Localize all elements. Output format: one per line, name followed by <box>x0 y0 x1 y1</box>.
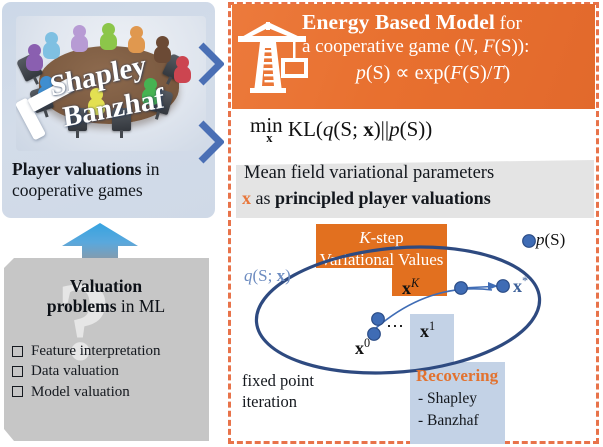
x1-sup: 1 <box>429 319 435 333</box>
principled-line: x as principled player valuations <box>242 188 598 209</box>
checkbox-icon[interactable] <box>12 386 23 397</box>
x-1-label: x1 <box>420 319 435 342</box>
formula-F: F <box>450 62 462 84</box>
kl-objective: min x KL(q(S; x)||p(S)) <box>250 113 570 146</box>
subtitle-mid: , <box>473 36 483 57</box>
q-symbol: q <box>244 266 253 285</box>
list-item-label: Data valuation <box>31 361 119 381</box>
title-bold-2: problems <box>47 296 117 316</box>
recovering-title: Recovering <box>416 366 498 386</box>
recovering-item: - Banzhaf <box>418 410 479 432</box>
player-valuations-panel: Shapley Banzhaf Player valuations in coo… <box>2 2 215 218</box>
caption-bold: Player valuations <box>12 159 141 179</box>
formula-end: ) <box>503 62 510 84</box>
kl-body-pre: KL( <box>288 117 323 141</box>
checkbox-icon[interactable] <box>12 366 23 377</box>
recovering-item: - Shapley <box>418 388 479 410</box>
x1-base: x <box>420 321 429 341</box>
q-end: ) <box>285 266 291 285</box>
fixed-point-line1: fixed point <box>242 370 314 391</box>
player-valuations-caption: Player valuations in cooperative games <box>12 159 209 200</box>
subtitle-post: (S)): <box>495 36 530 57</box>
x-star-label: x* <box>513 274 528 297</box>
person-figure <box>100 23 117 49</box>
cooperative-game-meeting-illustration: Shapley Banzhaf <box>16 16 206 151</box>
formula-S: (S) ∝ exp( <box>366 62 450 84</box>
xk-sup: K <box>411 276 419 290</box>
subtitle-pre: a cooperative game ( <box>302 36 461 57</box>
subtitle-N: N <box>461 36 474 57</box>
list-item-label: Model valuation <box>31 382 130 402</box>
energy-model-formula: p(S) ∝ exp(F(S)/T) <box>302 61 590 85</box>
q-x: x <box>277 266 286 285</box>
kl-p: p <box>389 117 400 141</box>
person-figure <box>71 25 88 51</box>
p-rest: (S) <box>545 230 566 249</box>
principled-mid: as <box>251 188 275 208</box>
left-column: Shapley Banzhaf Player valuations in coo… <box>0 0 228 447</box>
valuation-problems-list: Feature interpretation Data valuation Mo… <box>12 341 208 402</box>
variational-diagram: K-step Variational Values q(S; x) p(S) x… <box>230 218 601 446</box>
title-rest: in ML <box>117 296 166 316</box>
valuation-problems-title: Valuation problems in ML <box>10 276 202 317</box>
list-item: Feature interpretation <box>12 341 208 361</box>
q-rest: (S; <box>253 266 277 285</box>
kl-end: (S)) <box>400 117 433 141</box>
fixed-point-iteration-label: fixed point iteration <box>242 370 314 412</box>
q-distribution-label: q(S; x) <box>244 266 291 286</box>
person-figure <box>128 26 145 52</box>
energy-model-header-text: Energy Based Model for a cooperative gam… <box>302 10 590 85</box>
fixed-point-line2: iteration <box>242 391 314 412</box>
xk-base: x <box>402 278 411 298</box>
chevron-to-energy-model-icon <box>198 42 224 86</box>
title-bold-1: Valuation <box>70 276 142 296</box>
formula-p: p <box>356 62 366 84</box>
energy-model-title: Energy Based Model for <box>302 10 590 36</box>
orange-x-symbol: x <box>242 188 251 208</box>
x-0-label: x0 <box>355 336 370 359</box>
title-rest: for <box>495 13 522 34</box>
kl-q: q <box>323 117 334 141</box>
title-bold: Energy Based Model <box>302 10 495 34</box>
subtitle-F: F <box>483 36 495 57</box>
crane-icon <box>236 12 308 94</box>
caption-rest: in <box>141 159 159 179</box>
energy-model-subtitle: a cooperative game (N, F(S)): <box>302 36 590 59</box>
xstar-sup: * <box>522 274 528 288</box>
formula-T: T <box>492 62 503 84</box>
kl-x: x <box>363 117 374 141</box>
list-item: Model valuation <box>12 382 208 402</box>
chevron-to-kl-objective-icon <box>198 120 224 164</box>
principled-bold: principled player valuations <box>275 188 491 208</box>
list-item-label: Feature interpretation <box>31 341 161 361</box>
formula-tail: (S)/ <box>462 62 492 84</box>
list-item: Data valuation <box>12 361 208 381</box>
x0-sup: 0 <box>364 336 370 350</box>
person-figure <box>43 32 60 58</box>
x-k-label: xK <box>402 276 419 299</box>
kl-args: (S; <box>333 117 363 141</box>
caption-line2: cooperative games <box>12 180 143 200</box>
kl-mid: )|| <box>374 117 389 141</box>
p-symbol: p <box>536 230 545 249</box>
mean-field-line: Mean field variational parameters <box>244 163 594 184</box>
recovering-items: - Shapley - Banzhaf <box>418 388 479 432</box>
person-figure <box>154 36 171 62</box>
x0-base: x <box>355 338 364 358</box>
p-distribution-label: p(S) <box>536 230 565 250</box>
person-figure <box>26 44 43 70</box>
ellipsis-label: ⋯ <box>386 316 406 337</box>
person-figure <box>174 56 191 82</box>
xstar-base: x <box>513 276 522 296</box>
up-arrow <box>60 222 140 262</box>
checkbox-icon[interactable] <box>12 346 23 357</box>
